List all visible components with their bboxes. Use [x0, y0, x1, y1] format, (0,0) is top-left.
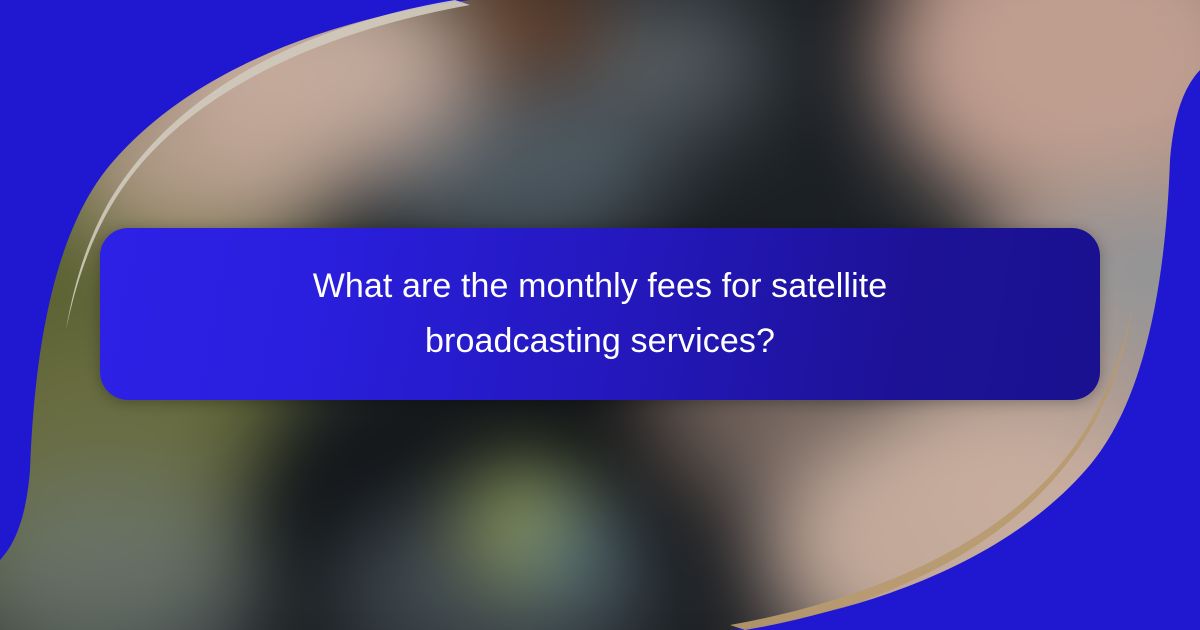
share-card-canvas: What are the monthly fees for satellite … [0, 0, 1200, 630]
question-card: What are the monthly fees for satellite … [100, 228, 1100, 400]
background-blob-blue-dot [540, 520, 596, 576]
background-blob-hand [60, 60, 340, 250]
question-text: What are the monthly fees for satellite … [250, 259, 950, 369]
